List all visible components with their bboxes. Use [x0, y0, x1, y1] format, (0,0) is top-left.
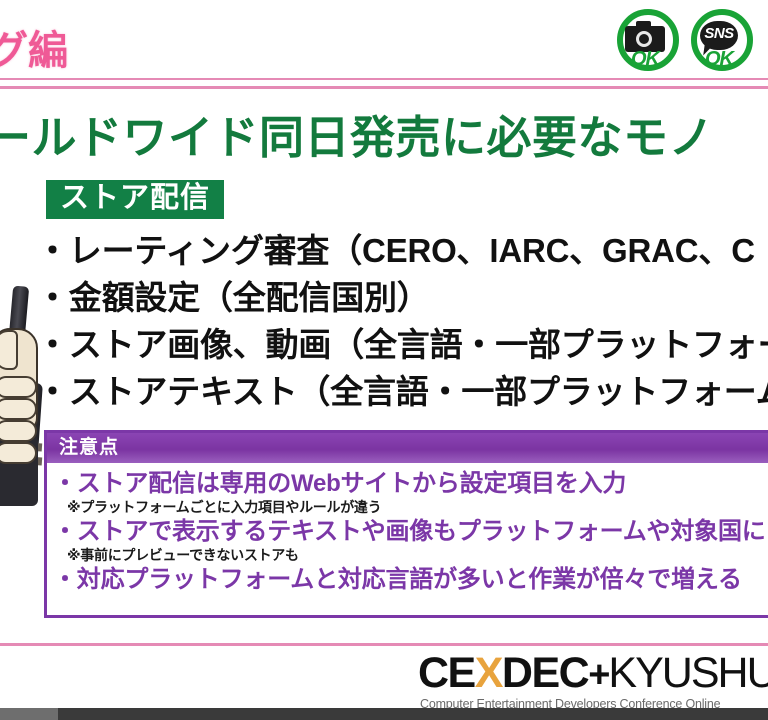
- caution-heading: 注意点: [47, 433, 768, 463]
- video-progress-fill: [0, 708, 58, 720]
- list-item: ・ストアテキスト（全言語・一部プラットフォーム別: [36, 369, 768, 416]
- caution-box: 注意点 ・ストア配信は専用のWebサイトから設定項目を入力 ※プラットフォームご…: [44, 430, 768, 618]
- list-item: ・ストア画像、動画（全言語・一部プラットフォー: [36, 322, 768, 369]
- sns-label: SNS: [700, 26, 738, 41]
- list-item: ・レーティング審査（CERO、IARC、GRAC、C: [36, 228, 768, 275]
- caution-note: ※事前にプレビューできないストアも: [53, 546, 768, 565]
- section-chip: ストア配信: [46, 180, 224, 219]
- caution-item: ・対応プラットフォームと対応言語が多いと作業が倍々で増える: [53, 565, 768, 594]
- caution-note: ※プラットフォームごとに入力項目やルールが違う: [53, 498, 768, 517]
- slide-canvas: グ編 OK SNS OK ールドワイド同日発売に必要なモノ ストア配信 ・レーテ…: [0, 0, 768, 708]
- bullet-list: ・レーティング審査（CERO、IARC、GRAC、C ・金額設定（全配信国別） …: [36, 228, 768, 415]
- caution-item: ・ストアで表示するテキストや画像もプラットフォームや対象国によっ: [53, 517, 768, 546]
- logo-tagline: Computer Entertainment Developers Confer…: [418, 697, 768, 708]
- finger: [0, 398, 37, 420]
- presenter-hand-illustration: [0, 286, 56, 586]
- camera-ok-icon: OK: [614, 6, 676, 68]
- finger: [0, 420, 37, 442]
- logo-kyushu: KYUSHU2: [608, 649, 768, 697]
- sns-ok-icon: SNS OK: [688, 6, 750, 68]
- cedec-kyushu-logo: CEXDEC+KYUSHU2 Computer Entertainment De…: [418, 652, 768, 708]
- permission-badges: OK SNS OK: [614, 6, 750, 68]
- header-rule-upper: [0, 78, 768, 80]
- finger: [0, 442, 37, 464]
- video-progress-bar[interactable]: [0, 708, 768, 720]
- sns-ok-label: OK: [688, 49, 750, 69]
- logo-ce: CE: [418, 649, 475, 697]
- thumb: [0, 330, 18, 370]
- footer-rule: [0, 643, 768, 646]
- logo-x-icon: X: [475, 649, 502, 697]
- caution-body: ・ストア配信は専用のWebサイトから設定項目を入力 ※プラットフォームごとに入力…: [47, 463, 768, 595]
- logo-wordmark: CEXDEC+KYUSHU2: [418, 652, 768, 695]
- header-rule-lower: [0, 86, 768, 89]
- page-title: ールドワイド同日発売に必要なモノ: [0, 101, 714, 166]
- logo-dec: DEC: [502, 649, 588, 697]
- list-item: ・金額設定（全配信国別）: [36, 275, 768, 322]
- camera-lens: [636, 31, 652, 47]
- finger: [0, 376, 37, 398]
- slide-header: グ編 OK SNS OK: [0, 0, 768, 78]
- caution-item: ・ストア配信は専用のWebサイトから設定項目を入力: [53, 469, 768, 498]
- section-label: グ編: [0, 18, 68, 76]
- logo-plus: +: [588, 654, 608, 696]
- camera-ok-label: OK: [614, 49, 676, 69]
